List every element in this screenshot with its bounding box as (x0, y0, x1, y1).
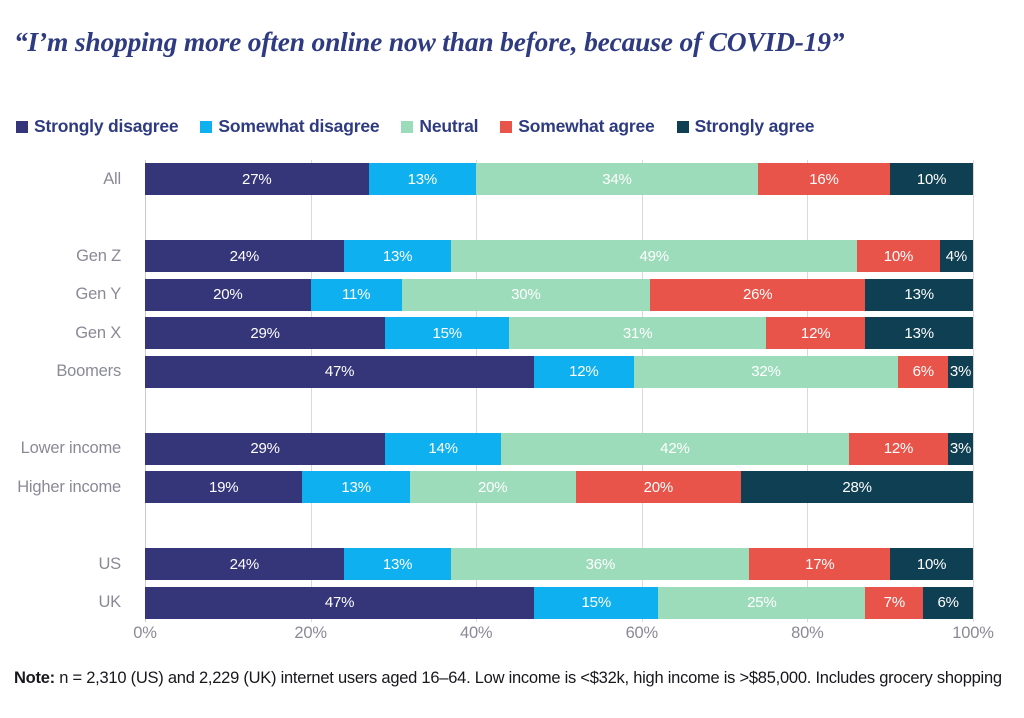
bar-segment[interactable]: 24% (145, 240, 344, 272)
bar-segment[interactable]: 27% (145, 163, 369, 195)
legend-swatch-icon (500, 121, 512, 133)
legend-swatch-icon (200, 121, 212, 133)
category-label: Higher income (0, 471, 133, 503)
category-label-spacer (0, 510, 133, 542)
x-axis-tick-label: 40% (460, 624, 492, 643)
bar-segment-label: 24% (230, 556, 259, 573)
bar-segment-label: 10% (917, 171, 946, 188)
bar-segment[interactable]: 7% (865, 587, 923, 619)
bar-segment[interactable]: 3% (948, 356, 973, 388)
legend-swatch-icon (677, 121, 689, 133)
bar-row[interactable]: 19%13%20%20%28% (145, 471, 973, 503)
bar-segment-label: 49% (639, 248, 668, 265)
x-axis-tick-label: 60% (626, 624, 658, 643)
bar-segment[interactable]: 28% (741, 471, 973, 503)
bar-segment-label: 47% (325, 363, 354, 380)
bar-row[interactable]: 29%14%42%12%3% (145, 433, 973, 465)
bar-row[interactable]: 29%15%31%12%13% (145, 317, 973, 349)
legend-item[interactable]: Strongly agree (677, 116, 815, 137)
category-label: Lower income (0, 433, 133, 465)
bar-segment[interactable]: 26% (650, 279, 865, 311)
bar-segment[interactable]: 47% (145, 587, 534, 619)
bar-segment[interactable]: 36% (451, 548, 749, 580)
bar-row[interactable]: 24%13%36%17%10% (145, 548, 973, 580)
bar-segment-label: 17% (805, 556, 834, 573)
bar-segment-label: 6% (937, 594, 958, 611)
legend-item[interactable]: Strongly disagree (16, 116, 178, 137)
bar-segment[interactable]: 13% (302, 471, 410, 503)
bar-segment-label: 14% (428, 440, 457, 457)
bar-segment-label: 34% (602, 171, 631, 188)
bar-segment[interactable]: 25% (658, 587, 865, 619)
legend-swatch-icon (16, 121, 28, 133)
legend-item-label: Somewhat agree (518, 116, 654, 137)
bar-segment-label: 20% (644, 479, 673, 496)
category-label: Boomers (0, 356, 133, 388)
bar-segment[interactable]: 42% (501, 433, 849, 465)
bar-segment[interactable]: 29% (145, 433, 385, 465)
bar-segment-label: 29% (250, 440, 279, 457)
bar-segment-label: 11% (342, 286, 370, 303)
bar-segment-label: 13% (341, 479, 370, 496)
category-label-spacer (0, 394, 133, 426)
bar-segment[interactable]: 16% (758, 163, 890, 195)
bar-segment[interactable]: 32% (634, 356, 899, 388)
bar-segment-label: 13% (904, 325, 933, 342)
bar-segment[interactable]: 20% (576, 471, 742, 503)
bar-segment-label: 10% (884, 248, 913, 265)
category-label: Gen Y (0, 279, 133, 311)
bar-segment-label: 3% (950, 363, 971, 380)
bar-segment-label: 28% (842, 479, 871, 496)
bar-segment[interactable]: 13% (344, 240, 452, 272)
category-label: All (0, 163, 133, 195)
bar-rows: 27%13%34%16%10%24%13%49%10%4%20%11%30%26… (145, 160, 973, 622)
value-axis: 0%20%40%60%80%100% (145, 624, 973, 648)
bar-segment[interactable]: 6% (898, 356, 948, 388)
x-axis-tick-label: 100% (952, 624, 993, 643)
bar-segment[interactable]: 24% (145, 548, 344, 580)
bar-segment[interactable]: 11% (311, 279, 402, 311)
legend-item-label: Somewhat disagree (218, 116, 379, 137)
x-axis-tick-label: 20% (294, 624, 326, 643)
bar-segment-label: 13% (383, 556, 412, 573)
bar-segment[interactable]: 15% (534, 587, 658, 619)
chart-legend: Strongly disagreeSomewhat disagreeNeutra… (16, 116, 836, 137)
legend-item-label: Strongly disagree (34, 116, 178, 137)
bar-segment[interactable]: 34% (476, 163, 758, 195)
bar-segment[interactable]: 12% (849, 433, 948, 465)
bar-segment[interactable]: 4% (940, 240, 973, 272)
bar-segment-label: 15% (582, 594, 611, 611)
category-label: UK (0, 587, 133, 619)
bar-segment-label: 4% (946, 248, 967, 265)
bar-segment[interactable]: 15% (385, 317, 509, 349)
bar-segment-label: 20% (478, 479, 507, 496)
bar-row[interactable]: 47%15%25%7%6% (145, 587, 973, 619)
bar-segment[interactable]: 17% (749, 548, 890, 580)
bar-segment-label: 30% (511, 286, 540, 303)
bar-segment[interactable]: 13% (865, 279, 973, 311)
category-label-spacer (0, 202, 133, 234)
footnote-prefix: Note: (14, 669, 55, 687)
bar-segment-label: 12% (801, 325, 830, 342)
x-axis-tick-label: 0% (133, 624, 156, 643)
bar-segment[interactable]: 19% (145, 471, 302, 503)
bar-segment[interactable]: 29% (145, 317, 385, 349)
legend-item[interactable]: Somewhat disagree (200, 116, 379, 137)
bar-segment-label: 24% (230, 248, 259, 265)
bar-segment-label: 36% (586, 556, 615, 573)
bar-row[interactable]: 27%13%34%16%10% (145, 163, 973, 195)
bar-segment-label: 13% (383, 248, 412, 265)
category-label: Gen Z (0, 240, 133, 272)
footnote-text: n = 2,310 (US) and 2,229 (UK) internet u… (55, 669, 1002, 687)
bar-segment-label: 12% (569, 363, 598, 380)
bar-segment-label: 26% (743, 286, 772, 303)
bar-segment[interactable]: 13% (369, 163, 477, 195)
bar-segment[interactable]: 47% (145, 356, 534, 388)
bar-segment-label: 15% (432, 325, 461, 342)
bar-segment-label: 47% (325, 594, 354, 611)
page-title: “I’m shopping more often online now than… (14, 26, 1004, 58)
bar-segment[interactable]: 31% (509, 317, 766, 349)
legend-item-label: Strongly agree (695, 116, 815, 137)
bar-segment-label: 16% (809, 171, 838, 188)
bar-segment-label: 13% (408, 171, 437, 188)
bar-segment-label: 32% (751, 363, 780, 380)
bar-segment-label: 25% (747, 594, 776, 611)
legend-item[interactable]: Somewhat agree (500, 116, 654, 137)
category-label: Gen X (0, 317, 133, 349)
bar-segment-label: 10% (917, 556, 946, 573)
bar-segment[interactable]: 3% (948, 433, 973, 465)
bar-row[interactable]: 20%11%30%26%13% (145, 279, 973, 311)
bar-segment-label: 42% (660, 440, 689, 457)
bar-segment[interactable]: 6% (923, 587, 973, 619)
bar-segment[interactable]: 10% (890, 548, 973, 580)
bar-segment-label: 6% (913, 363, 934, 380)
bar-row[interactable]: 24%13%49%10%4% (145, 240, 973, 272)
category-axis-labels: AllGen ZGen YGen XBoomersLower incomeHig… (0, 160, 133, 622)
bar-segment[interactable]: 14% (385, 433, 501, 465)
bar-segment[interactable]: 13% (344, 548, 452, 580)
bar-segment-label: 7% (884, 594, 905, 611)
bar-segment[interactable]: 20% (410, 471, 576, 503)
bar-segment-label: 31% (623, 325, 652, 342)
bar-segment[interactable]: 10% (890, 163, 973, 195)
bar-segment[interactable]: 12% (766, 317, 865, 349)
bar-segment-label: 27% (242, 171, 271, 188)
bar-segment[interactable]: 20% (145, 279, 311, 311)
chart-plot-area: 27%13%34%16%10%24%13%49%10%4%20%11%30%26… (145, 160, 973, 622)
bar-segment[interactable]: 13% (865, 317, 973, 349)
bar-row[interactable]: 47%12%32%6%3% (145, 356, 973, 388)
bar-segment-label: 3% (950, 440, 971, 457)
bar-segment[interactable]: 10% (857, 240, 940, 272)
category-label: US (0, 548, 133, 580)
bar-segment[interactable]: 12% (534, 356, 633, 388)
legend-item-label: Neutral (419, 116, 478, 137)
bar-segment[interactable]: 49% (451, 240, 857, 272)
x-axis-tick-label: 80% (791, 624, 823, 643)
bar-segment[interactable]: 30% (402, 279, 650, 311)
bar-segment-label: 13% (904, 286, 933, 303)
footnote: Note: n = 2,310 (US) and 2,229 (UK) inte… (14, 666, 1004, 691)
bar-segment-label: 19% (209, 479, 238, 496)
legend-item[interactable]: Neutral (401, 116, 478, 137)
bar-segment-label: 20% (213, 286, 242, 303)
bar-segment-label: 12% (884, 440, 913, 457)
legend-swatch-icon (401, 121, 413, 133)
bar-segment-label: 29% (250, 325, 279, 342)
gridline (973, 160, 974, 622)
